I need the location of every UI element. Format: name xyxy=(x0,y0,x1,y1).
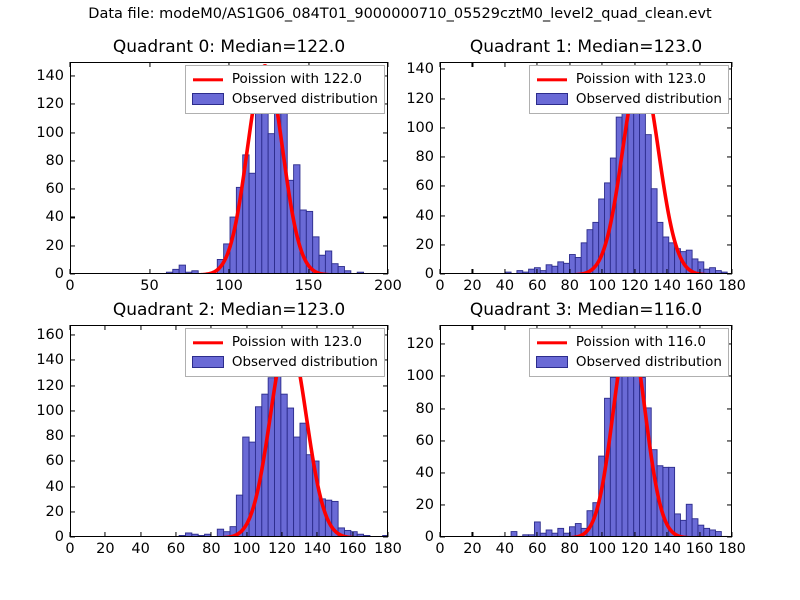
y-axis-tick-label: 20 xyxy=(46,504,64,520)
x-axis-tick-label: 80 xyxy=(561,541,579,557)
y-axis-tick-mark xyxy=(440,186,445,187)
y-axis-tick-label: 140 xyxy=(36,68,64,84)
x-axis-tick-label: 60 xyxy=(528,278,546,294)
histogram-bar xyxy=(546,530,552,537)
y-axis-tick-label: 40 xyxy=(46,479,64,495)
histogram-bar xyxy=(179,535,185,537)
y-axis-tick-mark xyxy=(383,410,388,411)
x-axis-tick-mark xyxy=(140,532,141,537)
x-axis-tick-label: 20 xyxy=(463,541,481,557)
y-axis-tick-label: 120 xyxy=(36,378,64,394)
x-axis-tick-mark xyxy=(699,269,700,274)
histogram-bar xyxy=(281,394,287,537)
histogram-bar xyxy=(192,534,198,537)
y-axis-tick-label: 40 xyxy=(416,208,434,224)
legend-patch-swatch-icon xyxy=(191,355,225,369)
y-axis-tick-mark xyxy=(70,160,75,161)
legend-line-swatch-icon xyxy=(191,336,225,350)
histogram-bar xyxy=(657,222,663,274)
histogram-bar xyxy=(511,532,517,537)
y-axis-tick-mark xyxy=(70,410,75,411)
y-axis-tick-mark xyxy=(440,504,445,505)
histogram-bar xyxy=(338,267,344,274)
x-axis-tick-label: 40 xyxy=(131,541,149,557)
histogram-bar xyxy=(640,113,646,274)
histogram-bar xyxy=(332,264,338,274)
histogram-bar xyxy=(569,255,575,274)
x-axis-tick-mark xyxy=(387,532,388,537)
histogram-bar xyxy=(173,269,179,274)
subplot-quadrant-2: Quadrant 2: Median=123.0 020406080100120… xyxy=(70,325,388,537)
y-axis-tick-label: 100 xyxy=(36,403,64,419)
histogram-bar xyxy=(344,271,350,274)
legend-label-observed: Observed distribution xyxy=(232,90,378,110)
x-axis-tick-label: 180 xyxy=(374,541,402,557)
subplot-quadrant-1: Quadrant 1: Median=123.0 020406080100120… xyxy=(440,62,732,274)
histogram-bar xyxy=(704,528,710,537)
y-axis-tick-label: 80 xyxy=(416,149,434,165)
x-axis-tick-mark xyxy=(439,62,440,67)
x-axis-tick-mark xyxy=(69,62,70,67)
y-axis-tick-mark xyxy=(440,127,445,128)
y-axis-tick-mark xyxy=(70,385,75,386)
x-axis-tick-mark xyxy=(308,269,309,274)
histogram-bar xyxy=(575,257,581,274)
histogram-bar xyxy=(306,455,312,537)
x-axis-tick-mark xyxy=(246,532,247,537)
legend-item-observed: Observed distribution xyxy=(191,353,378,373)
x-axis-tick-label: 100 xyxy=(588,278,616,294)
x-axis-tick-label: 40 xyxy=(496,541,514,557)
x-axis-tick-label: 0 xyxy=(435,541,444,557)
y-axis-tick-mark xyxy=(70,436,75,437)
legend: Poission with 123.0Observed distribution xyxy=(529,65,729,114)
figure-suptitle: Data file: modeM0/AS1G06_084T01_90000007… xyxy=(0,6,800,22)
legend-item-fit: Poission with 123.0 xyxy=(535,70,722,90)
x-axis-tick-mark xyxy=(439,325,440,330)
x-axis-tick-mark xyxy=(439,269,440,274)
y-axis-tick-mark xyxy=(383,385,388,386)
histogram-bar xyxy=(357,272,363,274)
y-axis-tick-label: 60 xyxy=(416,178,434,194)
x-axis-tick-mark xyxy=(504,325,505,330)
y-axis-tick-mark xyxy=(727,408,732,409)
y-axis-tick-mark xyxy=(70,273,75,274)
histogram-bar xyxy=(546,265,552,274)
subplot-title: Quadrant 2: Median=123.0 xyxy=(70,300,388,320)
y-axis-tick-mark xyxy=(727,472,732,473)
y-axis-tick-label: 60 xyxy=(46,181,64,197)
y-axis-tick-mark xyxy=(440,98,445,99)
y-axis-tick-label: 60 xyxy=(416,433,434,449)
legend-item-observed: Observed distribution xyxy=(191,90,378,110)
legend-label-observed: Observed distribution xyxy=(576,90,722,110)
x-axis-tick-label: 180 xyxy=(718,541,746,557)
histogram-bar xyxy=(505,272,511,274)
y-axis-tick-label: 0 xyxy=(55,266,64,282)
legend-label-fit: Poission with 116.0 xyxy=(576,333,706,353)
legend-line-swatch-icon xyxy=(535,73,569,87)
histogram-bar xyxy=(569,527,575,537)
legend-label-observed: Observed distribution xyxy=(232,353,378,373)
y-axis-tick-mark xyxy=(440,344,445,345)
legend: Poission with 122.0Observed distribution xyxy=(185,65,385,114)
histogram-bar xyxy=(523,535,529,537)
histogram-bar xyxy=(634,88,640,274)
y-axis-tick-label: 0 xyxy=(425,266,434,282)
histogram-bar xyxy=(344,530,350,537)
y-axis-tick-mark xyxy=(440,408,445,409)
x-axis-tick-label: 140 xyxy=(653,541,681,557)
y-axis-tick-mark xyxy=(383,486,388,487)
subplot-title: Quadrant 1: Median=123.0 xyxy=(440,37,732,57)
y-axis-tick-mark xyxy=(383,511,388,512)
x-axis-tick-mark xyxy=(472,269,473,274)
histogram-bar xyxy=(249,442,255,537)
y-axis-tick-label: 140 xyxy=(406,61,434,77)
histogram-bar xyxy=(255,108,261,274)
histogram-bar xyxy=(319,255,325,274)
x-axis-tick-mark xyxy=(569,269,570,274)
histogram-bar xyxy=(669,243,675,274)
legend-label-observed: Observed distribution xyxy=(576,353,722,373)
y-axis-tick-mark xyxy=(70,536,75,537)
y-axis-tick-mark xyxy=(440,244,445,245)
y-axis-tick-label: 120 xyxy=(406,336,434,352)
x-axis-tick-label: 0 xyxy=(65,278,74,294)
legend-item-fit: Poission with 122.0 xyxy=(191,70,378,90)
x-axis-tick-label: 60 xyxy=(528,541,546,557)
x-axis-tick-label: 80 xyxy=(202,541,220,557)
x-axis-tick-mark xyxy=(439,532,440,537)
x-axis-tick-label: 40 xyxy=(496,278,514,294)
y-axis-tick-mark xyxy=(440,376,445,377)
histogram-bar xyxy=(710,530,716,537)
x-axis-tick-mark xyxy=(667,532,668,537)
histogram-bar xyxy=(192,271,198,274)
x-axis-tick-mark xyxy=(387,325,388,330)
y-axis-tick-label: 60 xyxy=(46,453,64,469)
y-axis-tick-mark xyxy=(727,156,732,157)
y-axis-tick-mark xyxy=(727,186,732,187)
x-axis-tick-mark xyxy=(69,532,70,537)
histogram-bar xyxy=(300,423,306,537)
y-axis-tick-label: 20 xyxy=(46,238,64,254)
x-axis-tick-mark xyxy=(602,532,603,537)
x-axis-tick-label: 20 xyxy=(96,541,114,557)
y-axis-tick-label: 120 xyxy=(36,96,64,112)
y-axis-tick-label: 120 xyxy=(406,91,434,107)
y-axis-tick-mark xyxy=(727,215,732,216)
legend-item-observed: Observed distribution xyxy=(535,90,722,110)
x-axis-tick-mark xyxy=(105,532,106,537)
x-axis-tick-mark xyxy=(667,269,668,274)
legend-patch-swatch-icon xyxy=(191,92,225,106)
x-axis-tick-mark xyxy=(634,269,635,274)
y-axis-tick-label: 40 xyxy=(46,209,64,225)
histogram-bar xyxy=(294,437,300,537)
histogram-bar xyxy=(287,408,293,537)
x-axis-tick-label: 100 xyxy=(215,278,243,294)
histogram-bar xyxy=(628,357,634,537)
subplot-quadrant-0: Quadrant 0: Median=122.0 020406080100120… xyxy=(70,62,388,274)
x-axis-tick-label: 80 xyxy=(561,278,579,294)
legend: Poission with 116.0Observed distribution xyxy=(529,328,729,377)
y-axis-tick-mark xyxy=(383,217,388,218)
histogram-bar xyxy=(692,519,698,537)
x-axis-tick-mark xyxy=(731,325,732,330)
legend-item-observed: Observed distribution xyxy=(535,353,722,373)
x-axis-tick-mark xyxy=(281,532,282,537)
x-axis-tick-label: 100 xyxy=(233,541,261,557)
histogram-bar xyxy=(529,535,535,537)
legend: Poission with 123.0Observed distribution xyxy=(185,328,385,377)
legend-item-fit: Poission with 123.0 xyxy=(191,333,378,353)
histogram-bar xyxy=(529,269,535,274)
histogram-bar xyxy=(552,266,558,274)
x-axis-tick-label: 160 xyxy=(686,541,714,557)
histogram-bar xyxy=(325,251,331,274)
x-axis-tick-mark xyxy=(731,532,732,537)
legend-label-fit: Poission with 123.0 xyxy=(576,70,706,90)
y-axis-tick-mark xyxy=(440,536,445,537)
x-axis-tick-mark xyxy=(140,325,141,330)
x-axis-tick-mark xyxy=(634,532,635,537)
x-axis-tick-mark xyxy=(105,325,106,330)
x-axis-tick-mark xyxy=(504,62,505,67)
x-axis-tick-mark xyxy=(537,532,538,537)
y-axis-tick-mark xyxy=(70,360,75,361)
y-axis-tick-label: 0 xyxy=(425,529,434,545)
x-axis-tick-label: 0 xyxy=(435,278,444,294)
x-axis-tick-label: 200 xyxy=(374,278,402,294)
x-axis-tick-mark xyxy=(731,62,732,67)
histogram-bar xyxy=(558,528,564,537)
x-axis-tick-mark xyxy=(537,269,538,274)
histogram-bar xyxy=(185,533,191,537)
x-axis-tick-mark xyxy=(149,269,150,274)
y-axis-tick-mark xyxy=(70,335,75,336)
y-axis-tick-mark xyxy=(70,245,75,246)
histogram-bar xyxy=(552,533,558,537)
y-axis-tick-mark xyxy=(440,69,445,70)
y-axis-tick-mark xyxy=(383,132,388,133)
y-axis-tick-mark xyxy=(70,461,75,462)
figure-canvas: Data file: modeM0/AS1G06_084T01_90000007… xyxy=(0,0,800,600)
x-axis-tick-mark xyxy=(228,269,229,274)
histogram-bar xyxy=(224,532,230,537)
histogram-bar xyxy=(645,135,651,274)
x-axis-tick-mark xyxy=(69,325,70,330)
histogram-bar xyxy=(364,535,370,537)
histogram-bar xyxy=(680,520,686,537)
x-axis-tick-label: 20 xyxy=(463,278,481,294)
x-axis-tick-mark xyxy=(387,269,388,274)
y-axis-tick-mark xyxy=(70,132,75,133)
y-axis-tick-mark xyxy=(70,217,75,218)
x-axis-tick-label: 120 xyxy=(268,541,296,557)
y-axis-tick-mark xyxy=(440,440,445,441)
x-axis-tick-mark xyxy=(602,269,603,274)
histogram-bar xyxy=(179,265,185,274)
x-axis-tick-mark xyxy=(211,532,212,537)
y-axis-tick-mark xyxy=(383,245,388,246)
y-axis-tick-label: 100 xyxy=(406,368,434,384)
legend-patch-swatch-icon xyxy=(535,92,569,106)
x-axis-tick-label: 120 xyxy=(621,278,649,294)
x-axis-tick-mark xyxy=(699,532,700,537)
y-axis-tick-mark xyxy=(727,127,732,128)
x-axis-tick-mark xyxy=(504,269,505,274)
histogram-bar xyxy=(715,271,721,274)
y-axis-tick-label: 80 xyxy=(46,153,64,169)
y-axis-tick-label: 160 xyxy=(36,327,64,343)
y-axis-tick-mark xyxy=(70,189,75,190)
histogram-bar xyxy=(540,271,546,274)
histogram-bar xyxy=(217,529,223,537)
y-axis-tick-mark xyxy=(70,76,75,77)
histogram-bar xyxy=(249,173,255,274)
y-axis-tick-mark xyxy=(440,215,445,216)
x-axis-tick-mark xyxy=(472,532,473,537)
histogram-bar xyxy=(268,134,274,274)
x-axis-tick-mark xyxy=(175,325,176,330)
y-axis-tick-mark xyxy=(440,273,445,274)
y-axis-tick-label: 80 xyxy=(46,428,64,444)
histogram-bar xyxy=(540,533,546,537)
histogram-bar xyxy=(651,189,657,274)
subplot-quadrant-3: Quadrant 3: Median=116.0 020406080100120… xyxy=(440,325,732,537)
y-axis-tick-mark xyxy=(383,189,388,190)
subplot-title: Quadrant 0: Median=122.0 xyxy=(70,37,388,57)
y-axis-tick-label: 20 xyxy=(416,497,434,513)
y-axis-tick-mark xyxy=(383,160,388,161)
y-axis-tick-label: 140 xyxy=(36,352,64,368)
x-axis-tick-label: 160 xyxy=(339,541,367,557)
x-axis-tick-mark xyxy=(504,532,505,537)
x-axis-tick-mark xyxy=(569,532,570,537)
y-axis-tick-mark xyxy=(70,511,75,512)
x-axis-tick-label: 180 xyxy=(718,278,746,294)
y-axis-tick-mark xyxy=(727,440,732,441)
histogram-bar xyxy=(558,262,564,274)
x-axis-tick-label: 140 xyxy=(653,278,681,294)
y-axis-tick-mark xyxy=(727,244,732,245)
x-axis-tick-mark xyxy=(387,62,388,67)
y-axis-tick-mark xyxy=(727,504,732,505)
x-axis-tick-mark xyxy=(69,269,70,274)
y-axis-tick-label: 40 xyxy=(416,465,434,481)
histogram-bar xyxy=(710,268,716,274)
y-axis-tick-mark xyxy=(383,461,388,462)
legend-line-swatch-icon xyxy=(191,73,225,87)
histogram-bar xyxy=(523,272,529,274)
x-axis-tick-label: 120 xyxy=(621,541,649,557)
x-axis-tick-mark xyxy=(731,269,732,274)
x-axis-tick-mark xyxy=(175,532,176,537)
histogram-bar xyxy=(704,269,710,274)
legend-line-swatch-icon xyxy=(535,336,569,350)
legend-label-fit: Poission with 122.0 xyxy=(232,70,362,90)
subplot-title: Quadrant 3: Median=116.0 xyxy=(440,300,732,320)
x-axis-tick-mark xyxy=(472,325,473,330)
x-axis-tick-mark xyxy=(352,532,353,537)
histogram-bar xyxy=(198,535,204,537)
x-axis-tick-label: 150 xyxy=(295,278,323,294)
y-axis-tick-label: 100 xyxy=(406,120,434,136)
y-axis-tick-label: 20 xyxy=(416,237,434,253)
x-axis-tick-label: 0 xyxy=(65,541,74,557)
x-axis-tick-mark xyxy=(472,62,473,67)
x-axis-tick-mark xyxy=(317,532,318,537)
y-axis-tick-mark xyxy=(383,436,388,437)
x-axis-tick-label: 100 xyxy=(588,541,616,557)
x-axis-tick-label: 60 xyxy=(167,541,185,557)
x-axis-tick-label: 140 xyxy=(303,541,331,557)
legend-patch-swatch-icon xyxy=(535,355,569,369)
histogram-bar xyxy=(517,536,523,537)
legend-label-fit: Poission with 123.0 xyxy=(232,333,362,353)
y-axis-tick-label: 0 xyxy=(55,529,64,545)
histogram-bar xyxy=(166,272,172,274)
y-axis-tick-label: 100 xyxy=(36,125,64,141)
histogram-bar xyxy=(517,271,523,274)
x-axis-tick-label: 50 xyxy=(140,278,158,294)
legend-item-fit: Poission with 116.0 xyxy=(535,333,722,353)
y-axis-tick-mark xyxy=(70,104,75,105)
histogram-bar xyxy=(357,534,363,537)
histogram-bar xyxy=(185,272,191,274)
y-axis-tick-label: 80 xyxy=(416,401,434,417)
y-axis-tick-mark xyxy=(440,472,445,473)
y-axis-tick-mark xyxy=(70,486,75,487)
histogram-bar xyxy=(715,532,721,537)
y-axis-tick-mark xyxy=(440,156,445,157)
histogram-bar xyxy=(686,504,692,537)
x-axis-tick-mark xyxy=(149,62,150,67)
histogram-bar xyxy=(300,210,306,274)
x-axis-tick-label: 160 xyxy=(686,278,714,294)
histogram-bar xyxy=(581,243,587,274)
